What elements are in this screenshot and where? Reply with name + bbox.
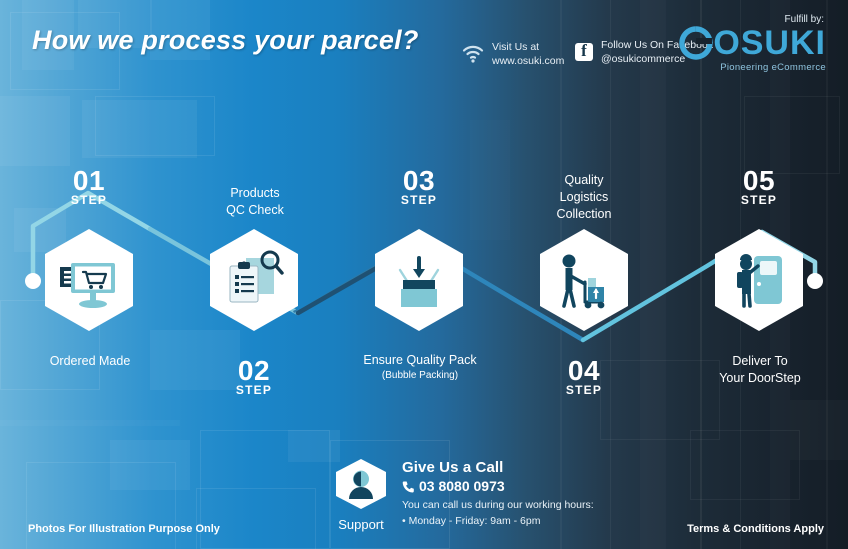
step-number-04: 04 STEP	[539, 358, 629, 396]
step-label-02: Products QC Check	[165, 185, 345, 219]
support-label: Support	[326, 517, 396, 532]
delivery-door-icon	[713, 228, 805, 332]
step-number-05: 05 STEP	[714, 168, 804, 206]
hours-line1: You can call us during our working hours…	[402, 498, 594, 514]
terms-conditions[interactable]: Terms & Conditions Apply	[687, 523, 824, 535]
step-hex-04[interactable]	[538, 228, 630, 332]
step-title-line2: Logistics	[494, 189, 674, 206]
hours-line2: • Monday - Friday: 9am - 6pm	[402, 514, 594, 530]
step-number-01: 01 STEP	[44, 168, 134, 206]
step-word: STEP	[44, 195, 134, 206]
step-word: STEP	[539, 385, 629, 396]
step-title-line1: Quality	[494, 172, 674, 189]
step-label-05: Deliver To Your DoorStep	[670, 353, 848, 387]
step-number-03: 03 STEP	[374, 168, 464, 206]
step-hex-02[interactable]	[208, 228, 300, 332]
step-number-value: 01	[44, 168, 134, 195]
support-person-icon	[334, 458, 388, 510]
step-title-line2: Your DoorStep	[670, 370, 848, 387]
monitor-shopping-cart-icon	[43, 228, 135, 332]
step-subtitle: (Bubble Packing)	[330, 369, 510, 383]
step-title: Ensure Quality Pack	[330, 352, 510, 369]
photos-note: Photos For Illustration Purpose Only	[28, 523, 220, 535]
call-block: Give Us a Call 03 8080 0973 You can call…	[402, 459, 594, 530]
step-number-02: 02 STEP	[209, 358, 299, 396]
step-title-line3: Collection	[494, 206, 674, 223]
step-number-value: 04	[539, 358, 629, 385]
step-number-value: 02	[209, 358, 299, 385]
open-box-arrow-icon	[373, 228, 465, 332]
step-hex-05[interactable]	[713, 228, 805, 332]
infographic-canvas: How we process your parcel? Visit Us at …	[0, 0, 848, 549]
support-block: Support	[326, 458, 396, 532]
step-hex-03[interactable]	[373, 228, 465, 332]
step-title-line1: Deliver To	[670, 353, 848, 370]
step-number-value: 03	[374, 168, 464, 195]
clipboard-magnifier-icon	[208, 228, 300, 332]
step-number-value: 05	[714, 168, 804, 195]
hand-truck-worker-icon	[538, 228, 630, 332]
step-word: STEP	[374, 195, 464, 206]
step-title: Ordered Made	[50, 354, 131, 368]
phone-number: 03 8080 0973	[419, 478, 505, 494]
step-word: STEP	[209, 385, 299, 396]
step-title-line1: Products	[165, 185, 345, 202]
step-label-03: Ensure Quality Pack (Bubble Packing)	[330, 352, 510, 382]
step-label-04: Quality Logistics Collection	[494, 172, 674, 223]
step-hex-01[interactable]	[43, 228, 135, 332]
step-title-line2: QC Check	[165, 202, 345, 219]
call-title: Give Us a Call	[402, 459, 594, 476]
step-label-01: Ordered Made	[0, 353, 180, 370]
phone-icon	[402, 480, 415, 493]
call-number-row[interactable]: 03 8080 0973	[402, 478, 594, 494]
step-word: STEP	[714, 195, 804, 206]
call-hours: You can call us during our working hours…	[402, 498, 594, 530]
